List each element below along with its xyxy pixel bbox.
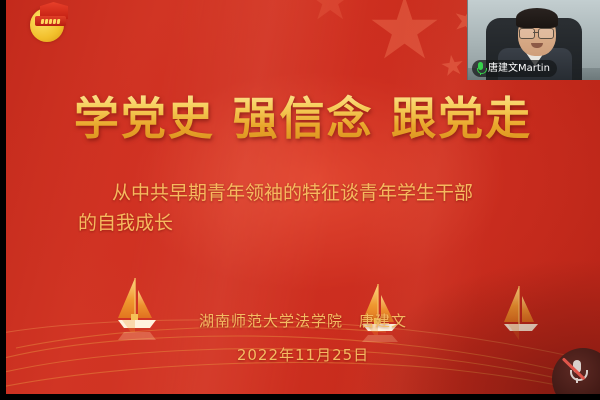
flag-star-icon: ★ [366, 0, 443, 72]
video-person-glasses-bridge [533, 32, 538, 33]
microphone-icon [476, 62, 485, 75]
participant-name-chip: 唐建文Martin [472, 60, 557, 77]
flag-star-icon: ★ [306, 0, 354, 28]
video-person-glasses-left [519, 28, 535, 39]
slide-subtitle-line-1: 从中共早期青年领袖的特征谈青年学生干部 [78, 178, 544, 208]
slide-presenter-line: 湖南师范大学法学院唐建文 [6, 310, 600, 331]
participant-video-tile[interactable]: 唐建文Martin [467, 0, 600, 80]
participant-name: 唐建文Martin [488, 64, 550, 74]
slide-subtitle-line-2: 的自我成长 [78, 208, 544, 238]
flag-star-icon: ★ [438, 50, 467, 81]
slide-date: 2022年11月25日 [6, 344, 600, 365]
organization-name: 湖南师范大学法学院 [199, 312, 343, 330]
screen-capture: ★ ★ ★ ★ [0, 0, 600, 400]
speaker-name: 唐建文 [359, 312, 407, 330]
communist-youth-league-emblem-icon [28, 2, 74, 42]
video-person-hair [516, 8, 558, 28]
slide-subtitle: 从中共早期青年领袖的特征谈青年学生干部 的自我成长 [78, 178, 544, 238]
slide-title: 学党史 强信念 跟党走 [6, 82, 600, 147]
video-person-glasses-right [538, 28, 554, 39]
